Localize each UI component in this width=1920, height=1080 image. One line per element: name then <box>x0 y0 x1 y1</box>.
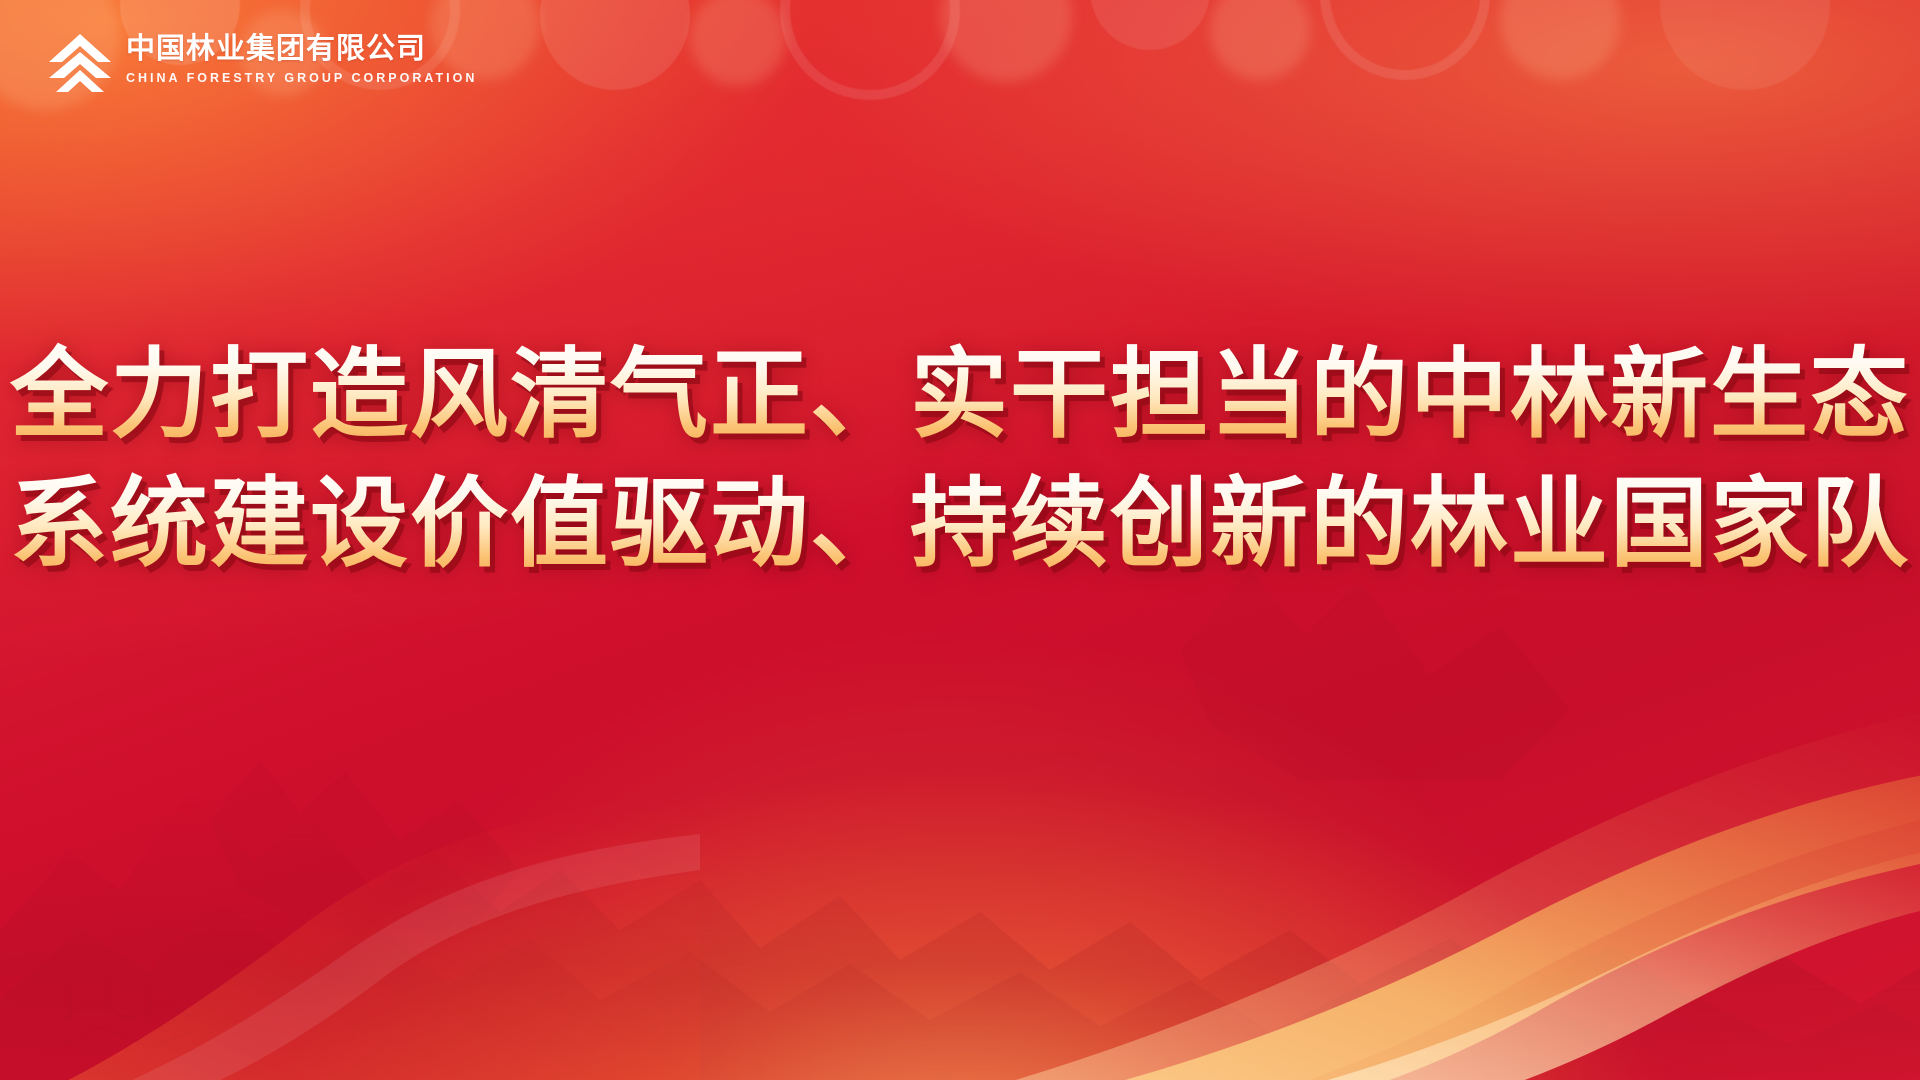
brand-logo[interactable]: 中国林业集团有限公司 CHINA FORESTRY GROUP CORPORAT… <box>48 32 477 94</box>
brand-name-en: CHINA FORESTRY GROUP CORPORATION <box>126 71 477 85</box>
left-wave-decoration <box>0 800 700 1080</box>
brand-wordmark: 中国林业集团有限公司 CHINA FORESTRY GROUP CORPORAT… <box>126 32 477 85</box>
gold-ribbon-decoration <box>780 680 1920 1080</box>
headline-line-1: 全力打造风清气正、实干担当的中林新生态 <box>0 330 1920 459</box>
headline-block: 全力打造风清气正、实干担当的中林新生态 系统建设价值驱动、持续创新的林业国家队 <box>0 330 1920 589</box>
brand-name-cn: 中国林业集团有限公司 <box>126 34 477 64</box>
headline-line-2: 系统建设价值驱动、持续创新的林业国家队 <box>0 459 1920 588</box>
forestry-pagoda-mark-icon <box>48 32 112 94</box>
banner-canvas: 中国林业集团有限公司 CHINA FORESTRY GROUP CORPORAT… <box>0 0 1920 1080</box>
